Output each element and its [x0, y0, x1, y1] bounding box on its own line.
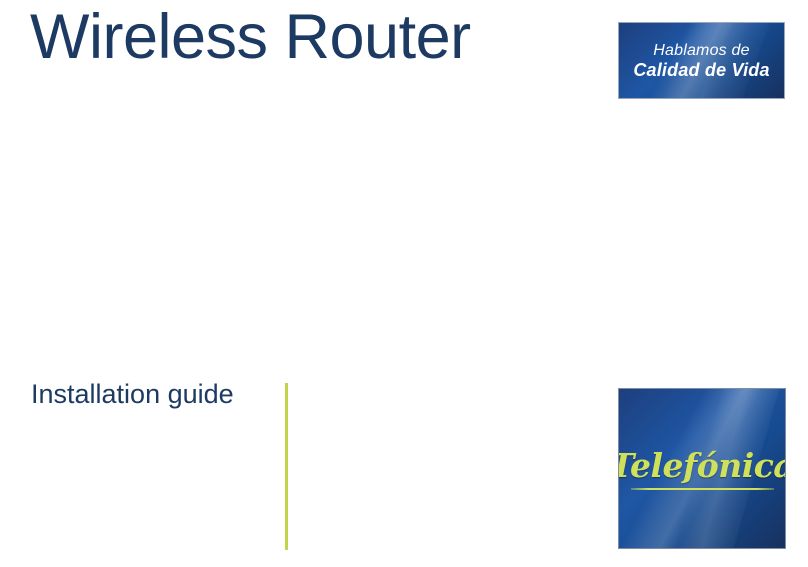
tagline-badge: Hablamos de Calidad de Vida [618, 22, 785, 99]
telefonica-logo: Telefónica [618, 388, 786, 549]
telefonica-underline [631, 488, 774, 490]
tagline-line-2: Calidad de Vida [633, 60, 769, 81]
green-vertical-rule [285, 383, 288, 550]
page-subtitle: Installation guide [31, 381, 234, 408]
cover-page: Wireless Router Installation guide Habla… [0, 0, 808, 567]
telefonica-wordmark: Telefónica [618, 448, 786, 484]
tagline-line-1: Hablamos de [653, 41, 749, 60]
page-title: Wireless Router [30, 6, 471, 69]
